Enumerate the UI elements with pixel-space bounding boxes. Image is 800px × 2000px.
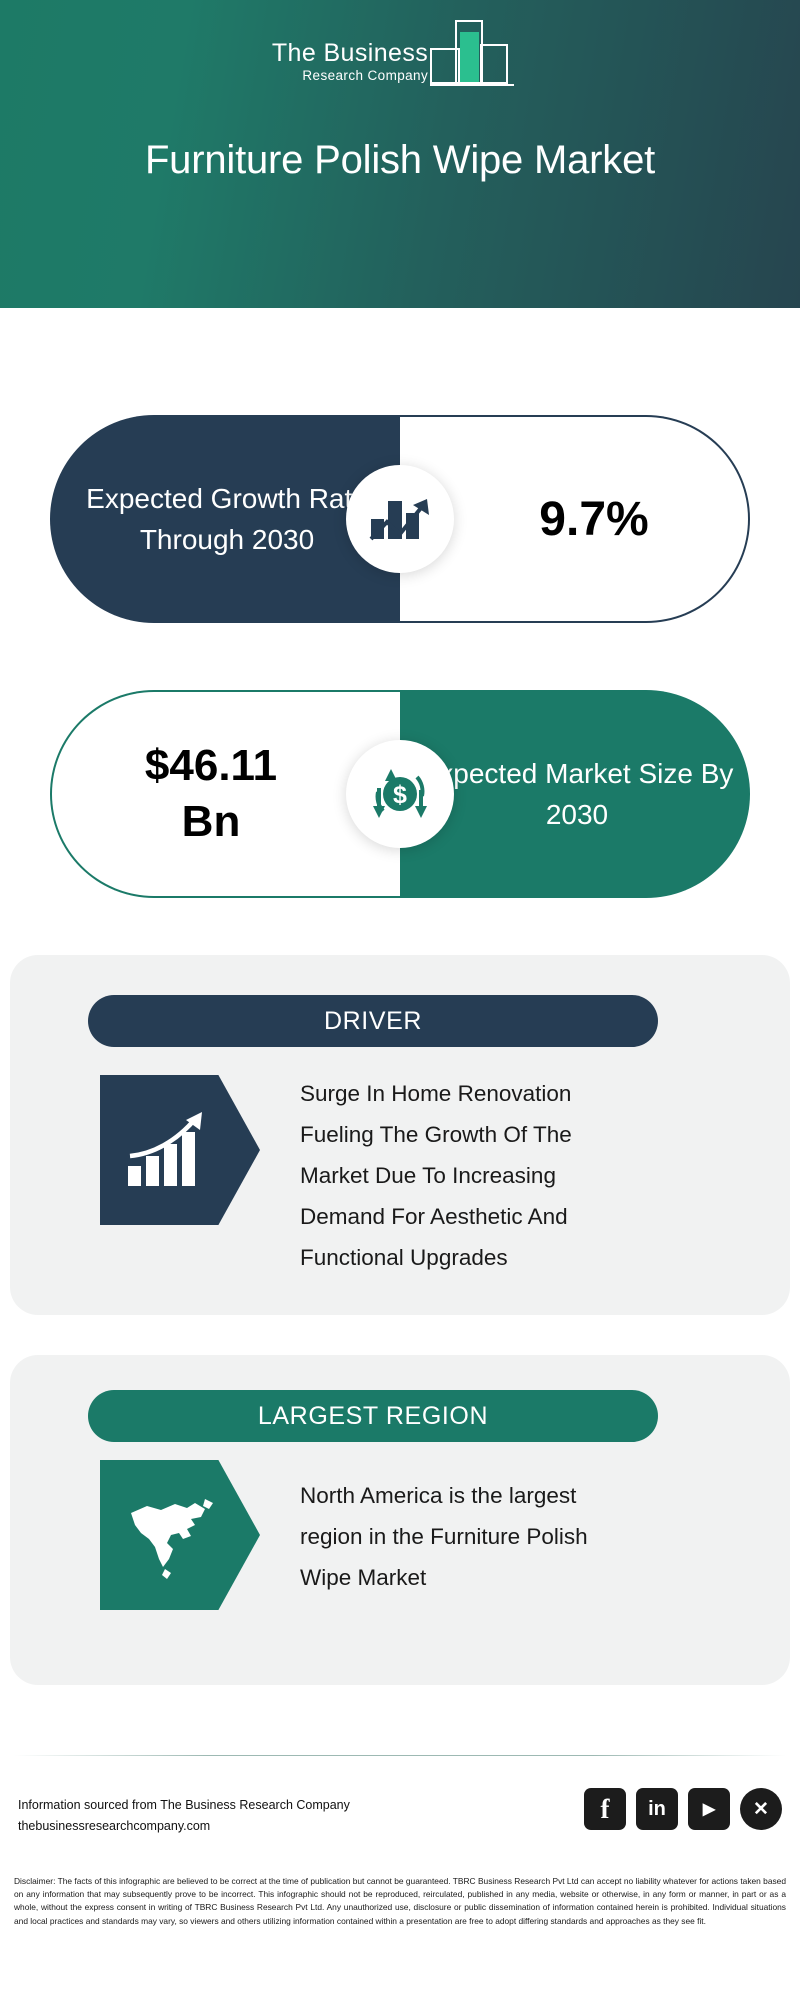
logo-baseline	[430, 84, 514, 86]
page-title: Furniture Polish Wipe Market	[0, 138, 800, 183]
x-twitter-icon[interactable]: ✕	[740, 1788, 782, 1830]
region-heading-pill: LARGEST REGION	[88, 1390, 658, 1442]
facebook-icon[interactable]: f	[584, 1788, 626, 1830]
facebook-glyph: f	[601, 1794, 610, 1825]
largest-region-panel: LARGEST REGION North America is the larg…	[10, 1355, 790, 1685]
logo-line-1: The Business	[272, 39, 428, 67]
stat-value: 9.7%	[499, 492, 648, 547]
x-glyph: ✕	[753, 1798, 769, 1821]
region-heading: LARGEST REGION	[258, 1402, 488, 1431]
driver-body-text: Surge In Home Renovation Fueling The Gro…	[300, 1073, 630, 1278]
stat-card-market-size: $46.11 Bn Expected Market Size By 2030 $	[50, 690, 750, 898]
logo-bar-3	[480, 44, 508, 84]
linkedin-glyph: in	[648, 1798, 666, 1821]
stat-value-line-2: Bn	[182, 797, 241, 846]
bar-chart-growth-icon	[100, 1075, 260, 1225]
header-banner: The Business Research Company Furniture …	[0, 0, 800, 308]
company-logo: The Business Research Company	[0, 18, 800, 90]
north-america-map-icon	[100, 1460, 260, 1610]
linkedin-icon[interactable]: in	[636, 1788, 678, 1830]
youtube-glyph: ▶	[703, 1799, 715, 1819]
stat-value: $46.11 Bn	[145, 738, 307, 850]
youtube-icon[interactable]: ▶	[688, 1788, 730, 1830]
dollar-circular-arrows-icon: $	[346, 740, 454, 848]
source-line-1: Information sourced from The Business Re…	[18, 1795, 350, 1816]
disclaimer-text: Disclaimer: The facts of this infographi…	[14, 1875, 786, 1928]
driver-heading: DRIVER	[324, 1007, 422, 1036]
bar-chart-logo-icon	[430, 18, 528, 90]
logo-bar-accent	[460, 32, 479, 82]
region-body-text: North America is the largest region in t…	[300, 1475, 640, 1598]
stat-card-growth-rate: Expected Growth Rate Through 2030 9.7%	[50, 415, 750, 623]
source-website[interactable]: thebusinessresearchcompany.com	[18, 1816, 350, 1837]
logo-text: The Business Research Company	[272, 39, 428, 90]
stat-value-line-1: $46.11	[145, 741, 277, 790]
driver-heading-pill: DRIVER	[88, 995, 658, 1047]
source-info: Information sourced from The Business Re…	[18, 1795, 350, 1837]
footer-divider	[14, 1755, 786, 1756]
growth-chart-arrow-icon	[346, 465, 454, 573]
driver-panel: DRIVER Surge In Home Renovation Fueling …	[10, 955, 790, 1315]
svg-text:$: $	[393, 781, 407, 809]
logo-line-2: Research Company	[272, 67, 428, 84]
social-links: f in ▶ ✕	[584, 1788, 782, 1830]
